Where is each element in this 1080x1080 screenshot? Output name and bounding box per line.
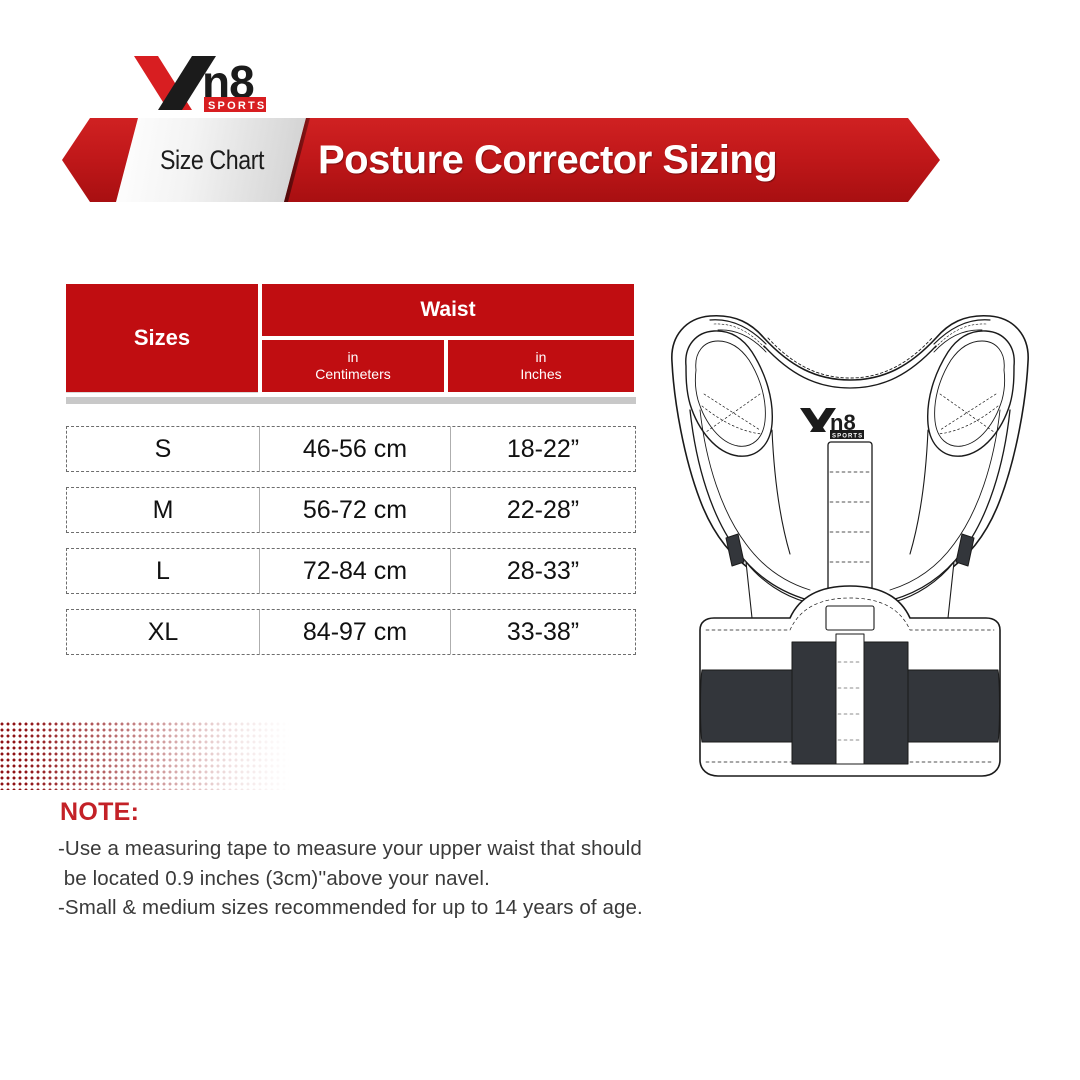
brand-logo: n8 SPORTS xyxy=(130,52,295,114)
svg-text:SPORTS: SPORTS xyxy=(832,434,863,440)
header-cell-waist: Waist xyxy=(262,284,634,336)
cell-inches: 22-28” xyxy=(449,488,637,532)
header-cell-inches: in Inches xyxy=(448,340,634,392)
table-row: M 56-72 cm 22-28” xyxy=(66,487,636,533)
note-heading: NOTE: xyxy=(60,798,139,827)
note-line-2: be located 0.9 inches (3cm)''above your … xyxy=(58,864,758,894)
cell-inches: 28-33” xyxy=(449,549,637,593)
header-cm-line1: in xyxy=(348,349,359,367)
header-cell-sizes: Sizes xyxy=(66,284,258,392)
cell-inches: 18-22” xyxy=(449,427,637,471)
header-cm-line2: Centimeters xyxy=(315,366,390,384)
cell-size: XL xyxy=(67,610,259,654)
svg-text:SPORTS: SPORTS xyxy=(208,100,266,112)
cell-centimeters: 56-72 cm xyxy=(259,488,451,532)
note-line-1: -Use a measuring tape to measure your up… xyxy=(58,834,758,864)
size-chart-page: n8 SPORTS Size Chart Posture Corrector S… xyxy=(0,0,1080,1080)
halftone-dots-decoration xyxy=(0,722,290,790)
page-title: Posture Corrector Sizing xyxy=(318,118,918,202)
header-cell-centimeters: in Centimeters xyxy=(262,340,444,392)
cell-size: M xyxy=(67,488,259,532)
size-chart-tab-label: Size Chart xyxy=(135,118,290,202)
cell-size: L xyxy=(67,549,259,593)
table-body: S 46-56 cm 18-22” M 56-72 cm 22-28” L 72… xyxy=(66,426,636,670)
title-banner: Size Chart Posture Corrector Sizing xyxy=(62,118,940,202)
cell-size: S xyxy=(67,427,259,471)
posture-corrector-illustration: n8 SPORTS xyxy=(640,290,1060,820)
header-in-line1: in xyxy=(536,349,547,367)
table-row: XL 84-97 cm 33-38” xyxy=(66,609,636,655)
header-in-line2: Inches xyxy=(520,366,561,384)
cell-centimeters: 84-97 cm xyxy=(259,610,451,654)
table-row: S 46-56 cm 18-22” xyxy=(66,426,636,472)
table-header: Sizes Waist in Centimeters in Inches xyxy=(66,284,636,396)
note-body: -Use a measuring tape to measure your up… xyxy=(58,834,758,923)
note-line-3: -Small & medium sizes recommended for up… xyxy=(58,893,758,923)
cell-centimeters: 46-56 cm xyxy=(259,427,451,471)
header-underline-bar xyxy=(66,397,636,404)
table-row: L 72-84 cm 28-33” xyxy=(66,548,636,594)
cell-inches: 33-38” xyxy=(449,610,637,654)
cell-centimeters: 72-84 cm xyxy=(259,549,451,593)
size-table: Sizes Waist in Centimeters in Inches S 4… xyxy=(66,284,636,396)
